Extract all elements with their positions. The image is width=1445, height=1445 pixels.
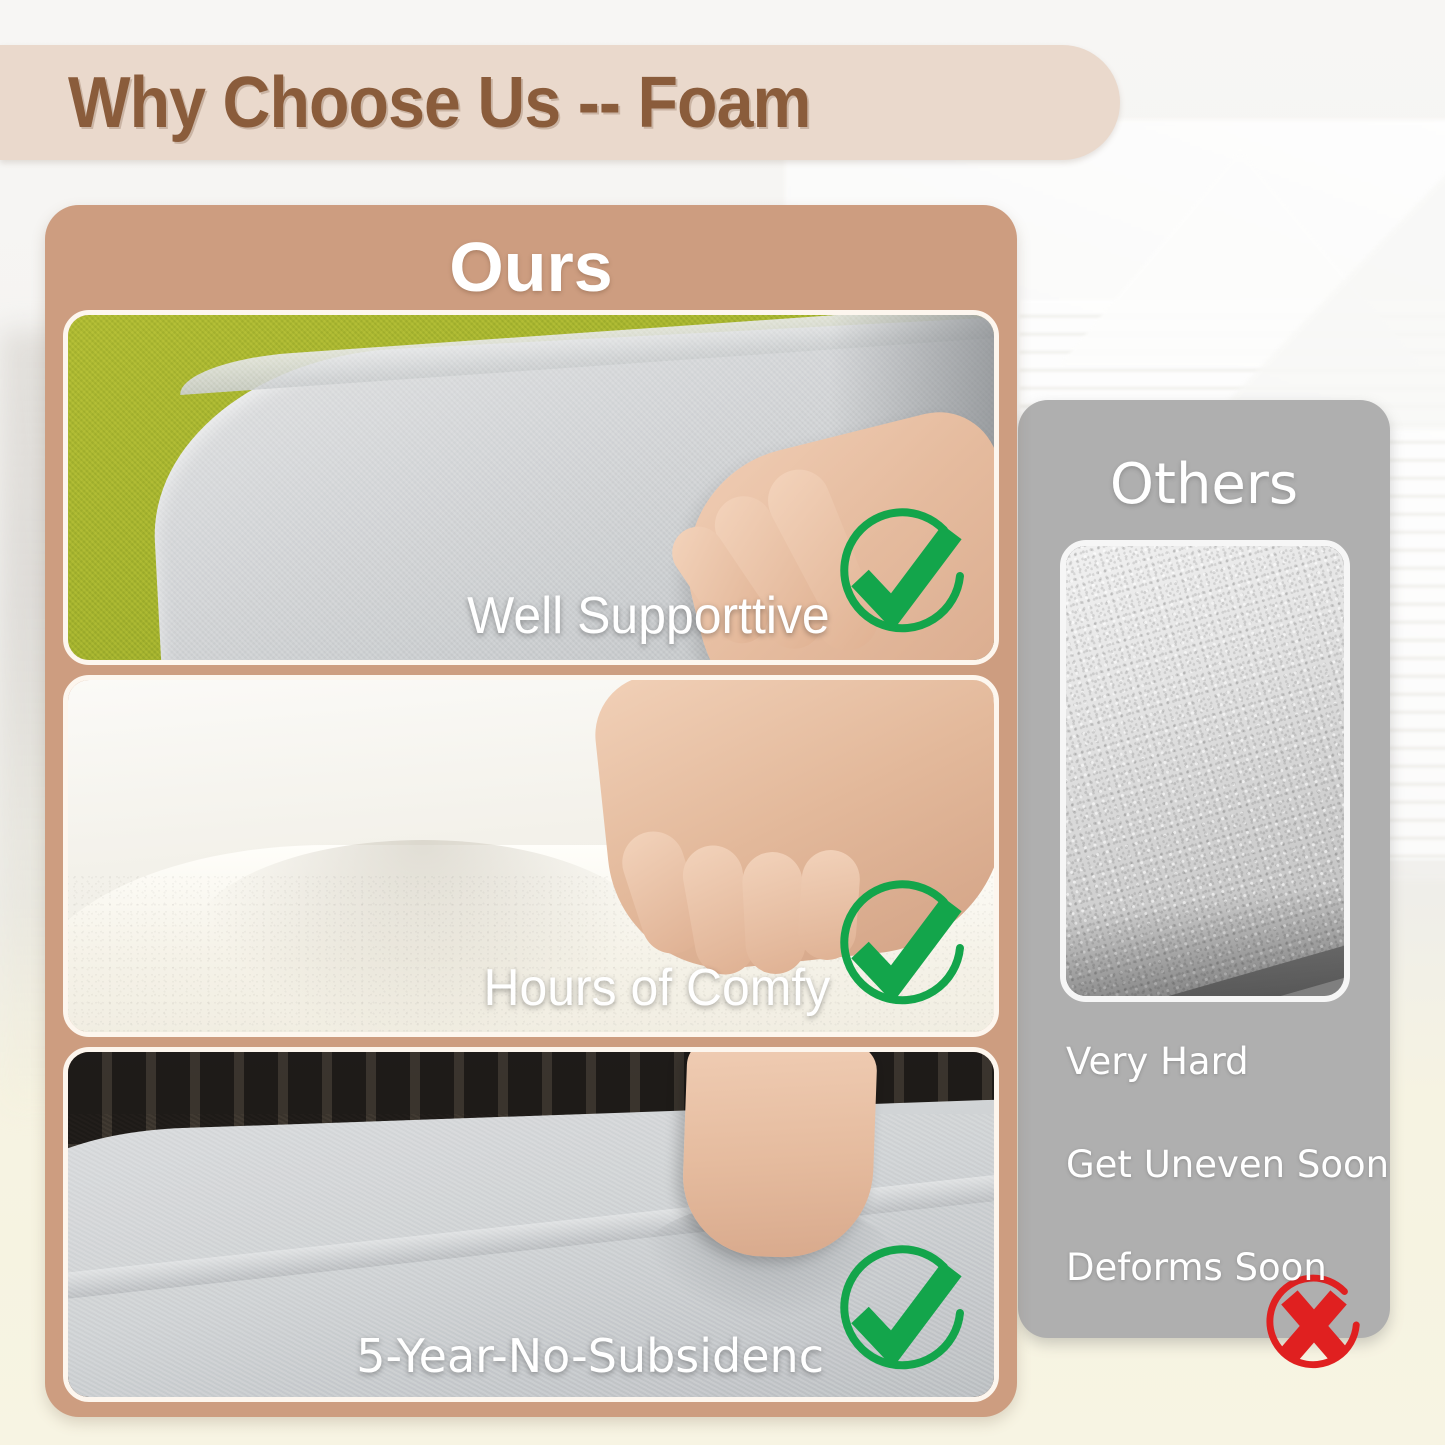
check-circle-icon <box>826 876 976 1026</box>
ours-feature-caption-2: Hours of Comfy <box>483 958 830 1018</box>
ours-panel: Ours Well Supporttive <box>45 205 1017 1417</box>
others-foam-photo <box>1066 546 1344 996</box>
check-circle-icon <box>826 1241 976 1391</box>
photo3-foot <box>680 1052 877 1260</box>
ours-title: Ours <box>45 227 1017 307</box>
background-roof-gable-right <box>1200 170 1445 430</box>
ours-feature-card-1: Well Supporttive <box>63 310 999 665</box>
others-photo-card <box>1060 540 1350 1002</box>
title-banner: Why Choose Us -- Foam <box>0 45 1120 160</box>
ours-feature-caption-3: 5-Year-No-Subsidenc <box>356 1329 824 1383</box>
list-item: Deforms Soon <box>1066 1246 1386 1289</box>
list-item: Very Hard <box>1066 1040 1386 1083</box>
ours-feature-caption-1: Well Supporttive <box>467 586 830 646</box>
others-panel: Others Very Hard Get Uneven Soon Deforms… <box>1018 400 1390 1338</box>
others-title: Others <box>1018 452 1390 517</box>
ours-feature-card-3: 5-Year-No-Subsidenc <box>63 1047 999 1402</box>
photo2-finger <box>741 851 807 976</box>
ours-feature-card-2: Hours of Comfy <box>63 675 999 1037</box>
others-drawback-list: Very Hard Get Uneven Soon Deforms Soon <box>1066 1040 1386 1349</box>
page-title: Why Choose Us -- Foam <box>68 62 810 144</box>
check-circle-icon <box>826 504 976 654</box>
comparison-infographic: Why Choose Us -- Foam Others Very Hard G… <box>0 0 1445 1445</box>
list-item: Get Uneven Soon <box>1066 1143 1386 1186</box>
